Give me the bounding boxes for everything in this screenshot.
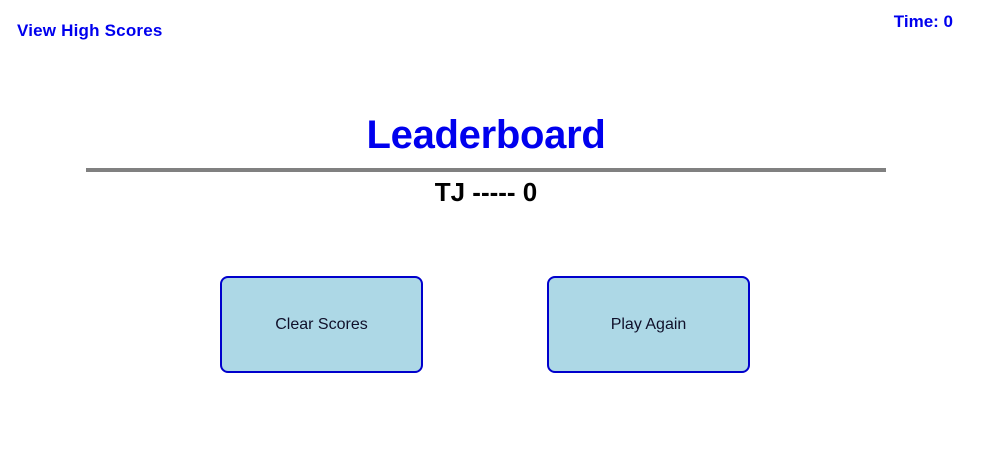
play-again-button[interactable]: Play Again xyxy=(547,276,750,373)
page-title: Leaderboard xyxy=(86,110,886,160)
score-list: TJ ----- 0 xyxy=(86,172,886,212)
score-row: TJ ----- 0 xyxy=(86,172,886,212)
leaderboard-panel: Leaderboard TJ ----- 0 xyxy=(86,110,886,212)
view-high-scores-link[interactable]: View High Scores xyxy=(17,21,163,41)
top-bar: View High Scores Time: 0 xyxy=(0,0,993,58)
clear-scores-button[interactable]: Clear Scores xyxy=(220,276,423,373)
timer-label: Time: 0 xyxy=(894,12,953,32)
button-row: Clear Scores Play Again xyxy=(0,276,993,373)
